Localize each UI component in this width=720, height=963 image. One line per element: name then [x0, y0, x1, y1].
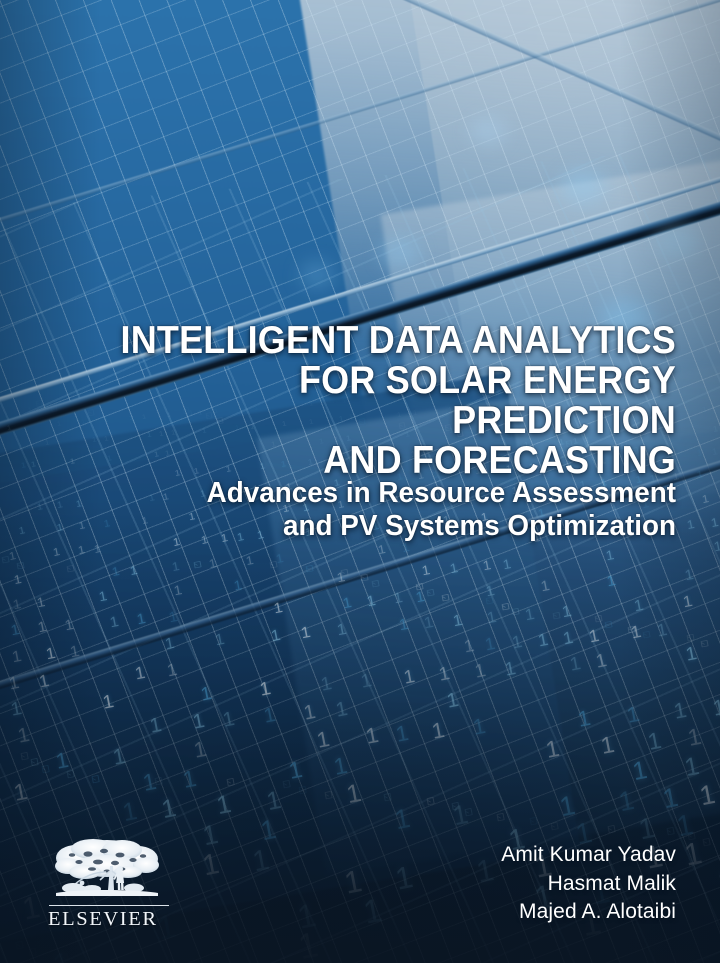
book-cover: 1111011100011010011111111001101110011101…: [0, 0, 720, 963]
title-line-3: AND FORECASTING: [81, 441, 676, 481]
cover-content: INTELLIGENT DATA ANALYTICS FOR SOLAR ENE…: [0, 0, 720, 963]
subtitle-line-2: and PV Systems Optimization: [65, 510, 676, 543]
publisher-logo: ELSEVIER: [48, 838, 174, 932]
author-name-2: Hasmat Malik: [501, 870, 676, 899]
publisher-name: ELSEVIER: [48, 907, 174, 931]
book-title: INTELLIGENT DATA ANALYTICS FOR SOLAR ENE…: [40, 321, 676, 481]
logo-divider-rule: [49, 905, 169, 907]
title-line-2: FOR SOLAR ENERGY PREDICTION: [81, 361, 676, 441]
author-name-3: Majed A. Alotaibi: [501, 898, 676, 927]
title-line-1: INTELLIGENT DATA ANALYTICS: [81, 321, 676, 361]
elsevier-tree-icon: [48, 838, 166, 902]
author-list: Amit Kumar Yadav Hasmat Malik Majed A. A…: [501, 841, 676, 927]
subtitle-line-1: Advances in Resource Assessment: [65, 477, 676, 510]
book-subtitle: Advances in Resource Assessment and PV S…: [40, 477, 676, 543]
author-name-1: Amit Kumar Yadav: [501, 841, 676, 870]
